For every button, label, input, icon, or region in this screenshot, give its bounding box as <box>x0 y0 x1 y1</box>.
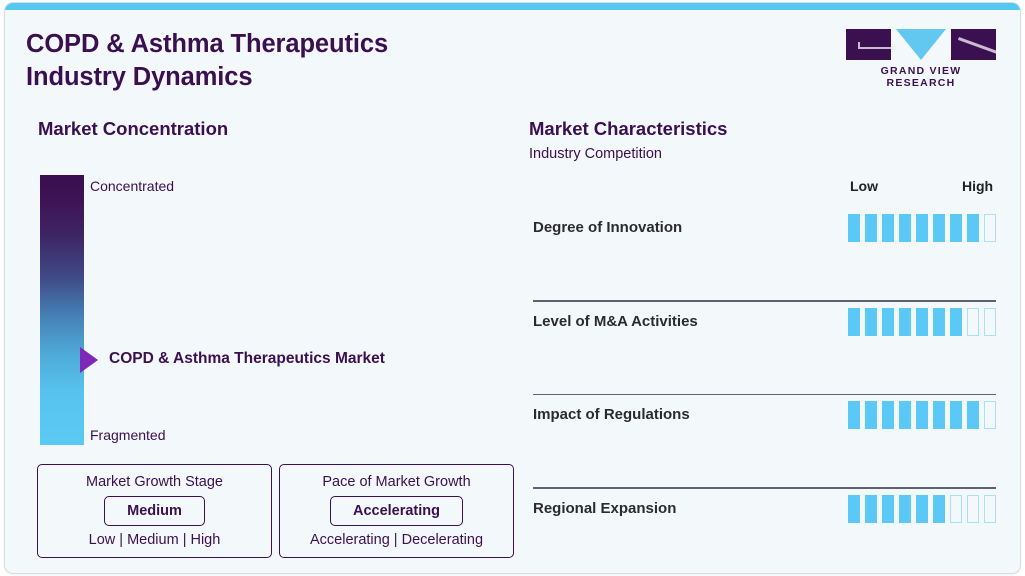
scale-label-concentrated: Concentrated <box>90 178 174 194</box>
rating-tick-filled <box>933 214 945 242</box>
market-growth-stage-value-chip: Medium <box>104 496 205 526</box>
pace-of-market-growth-value-chip: Accelerating <box>330 496 463 526</box>
market-growth-stage-options: Low | Medium | High <box>89 532 221 548</box>
scale-label-fragmented: Fragmented <box>90 427 165 443</box>
logo-wordmark: GRAND VIEW RESEARCH <box>846 65 996 89</box>
rating-tick-empty <box>984 308 996 336</box>
rating-tick-empty <box>984 401 996 429</box>
rating-scale <box>848 495 996 523</box>
rating-tick-filled <box>865 308 877 336</box>
market-position-label: COPD & Asthma Therapeutics Market <box>109 350 385 368</box>
logo-marks <box>846 29 996 60</box>
rating-tick-filled <box>916 214 928 242</box>
rating-tick-empty <box>984 495 996 523</box>
rating-tick-filled <box>848 401 860 429</box>
market-growth-stage-title: Market Growth Stage <box>86 474 223 490</box>
rating-scale <box>848 214 996 242</box>
rating-tick-filled <box>865 495 877 523</box>
rating-tick-filled <box>899 214 911 242</box>
logo-right-block-icon <box>951 29 996 60</box>
pace-of-market-growth-box: Pace of Market Growth Accelerating Accel… <box>279 464 514 558</box>
rating-tick-filled <box>933 495 945 523</box>
concentration-gradient-scale <box>40 175 84 445</box>
rating-tick-empty <box>967 308 979 336</box>
rating-tick-filled <box>848 495 860 523</box>
logo-left-block-icon <box>846 29 891 60</box>
pace-of-market-growth-value: Accelerating <box>353 503 440 519</box>
rating-tick-filled <box>916 495 928 523</box>
market-growth-stage-value: Medium <box>127 503 182 519</box>
pace-of-market-growth-title: Pace of Market Growth <box>322 474 470 490</box>
grand-view-research-logo: GRAND VIEW RESEARCH <box>846 29 996 89</box>
page-title: COPD & Asthma Therapeutics Industry Dyna… <box>26 28 388 94</box>
rating-tick-filled <box>967 214 979 242</box>
rating-tick-filled <box>882 495 894 523</box>
market-characteristics-subheading: Industry Competition <box>529 146 662 162</box>
rating-tick-filled <box>933 401 945 429</box>
rating-tick-filled <box>950 308 962 336</box>
rating-tick-filled <box>882 214 894 242</box>
characteristic-label: Regional Expansion <box>533 500 676 517</box>
market-position-arrow-icon <box>80 347 98 373</box>
rating-tick-empty <box>984 214 996 242</box>
rating-tick-filled <box>899 308 911 336</box>
rating-tick-filled <box>882 308 894 336</box>
characteristic-row: Regional Expansion <box>529 489 999 575</box>
market-concentration-heading: Market Concentration <box>38 118 228 140</box>
market-growth-stage-box: Market Growth Stage Medium Low | Medium … <box>37 464 272 558</box>
rating-tick-filled <box>950 401 962 429</box>
characteristics-rows: Degree of InnovationLevel of M&A Activit… <box>529 208 999 574</box>
rating-tick-filled <box>848 214 860 242</box>
rating-tick-filled <box>916 308 928 336</box>
rating-tick-filled <box>882 401 894 429</box>
rating-tick-filled <box>950 214 962 242</box>
rating-scale <box>848 308 996 336</box>
logo-triangle-icon <box>896 29 946 60</box>
rating-tick-empty <box>950 495 962 523</box>
top-accent-bar <box>5 3 1020 10</box>
market-characteristics-heading: Market Characteristics <box>529 118 727 140</box>
rating-tick-filled <box>899 495 911 523</box>
rating-tick-filled <box>865 401 877 429</box>
rating-tick-filled <box>916 401 928 429</box>
rating-tick-filled <box>899 401 911 429</box>
characteristic-row: Level of M&A Activities <box>529 302 999 396</box>
characteristic-row: Impact of Regulations <box>529 395 999 489</box>
characteristic-row: Degree of Innovation <box>529 208 999 302</box>
rating-tick-filled <box>967 401 979 429</box>
axis-label-high: High <box>962 178 993 194</box>
rating-scale <box>848 401 996 429</box>
characteristic-label: Impact of Regulations <box>533 406 690 423</box>
rating-tick-filled <box>848 308 860 336</box>
characteristic-label: Level of M&A Activities <box>533 313 698 330</box>
rating-tick-filled <box>933 308 945 336</box>
rating-tick-empty <box>967 495 979 523</box>
pace-of-market-growth-options: Accelerating | Decelerating <box>310 532 483 548</box>
infographic-card: COPD & Asthma Therapeutics Industry Dyna… <box>4 2 1021 574</box>
characteristic-label: Degree of Innovation <box>533 219 682 236</box>
axis-label-low: Low <box>850 178 878 194</box>
rating-tick-filled <box>865 214 877 242</box>
